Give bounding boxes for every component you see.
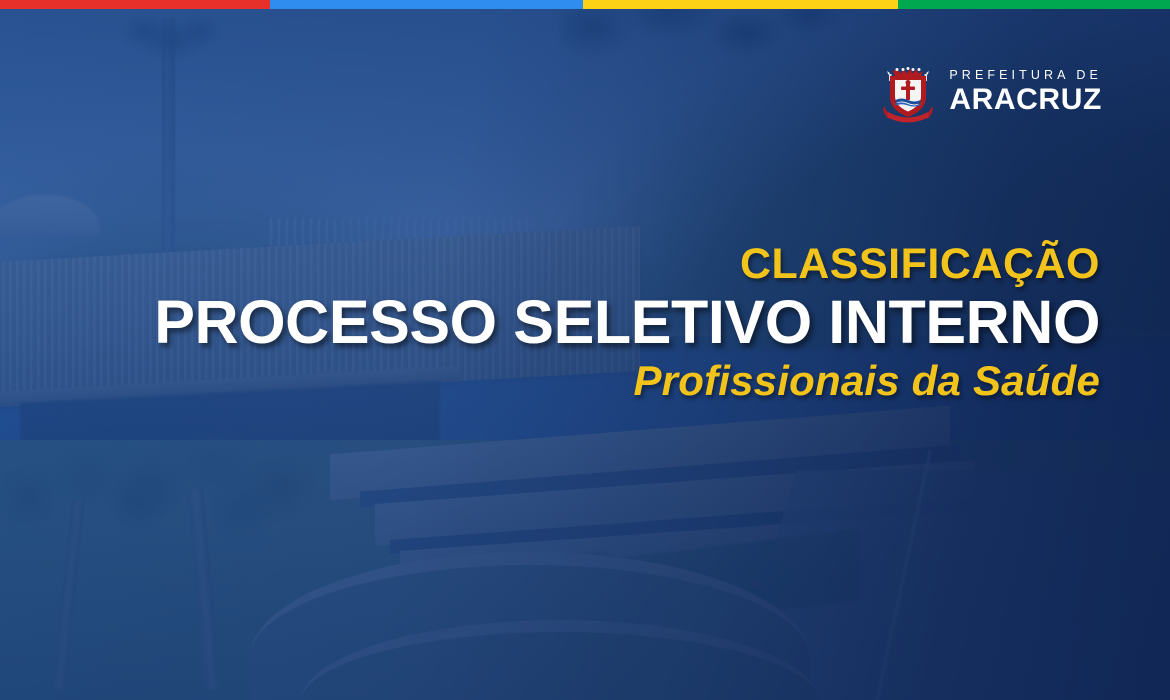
city-name-label: ARACRUZ — [949, 85, 1102, 115]
prefeitura-label: PREFEITURA DE — [949, 69, 1102, 82]
headline-block: CLASSIFICAÇÃO PROCESSO SELETIVO INTERNO … — [0, 243, 1170, 403]
page-title: PROCESSO SELETIVO INTERNO — [0, 291, 1100, 353]
classificacao-banner: PREFEITURA DE ARACRUZ CLASSIFICAÇÃO PROC… — [0, 0, 1170, 700]
strip-segment-red — [0, 0, 270, 9]
logo-wordmark: PREFEITURA DE ARACRUZ — [949, 69, 1102, 116]
strip-segment-yellow — [583, 0, 898, 9]
kicker-classificacao: CLASSIFICAÇÃO — [0, 243, 1100, 287]
aracruz-coat-of-arms-icon — [880, 60, 936, 124]
subtitle: Profissionais da Saúde — [0, 359, 1100, 403]
prefeitura-logo: PREFEITURA DE ARACRUZ — [880, 60, 1102, 124]
strip-segment-green — [898, 0, 1170, 9]
strip-segment-blue — [270, 0, 583, 9]
top-color-strip — [0, 0, 1170, 9]
